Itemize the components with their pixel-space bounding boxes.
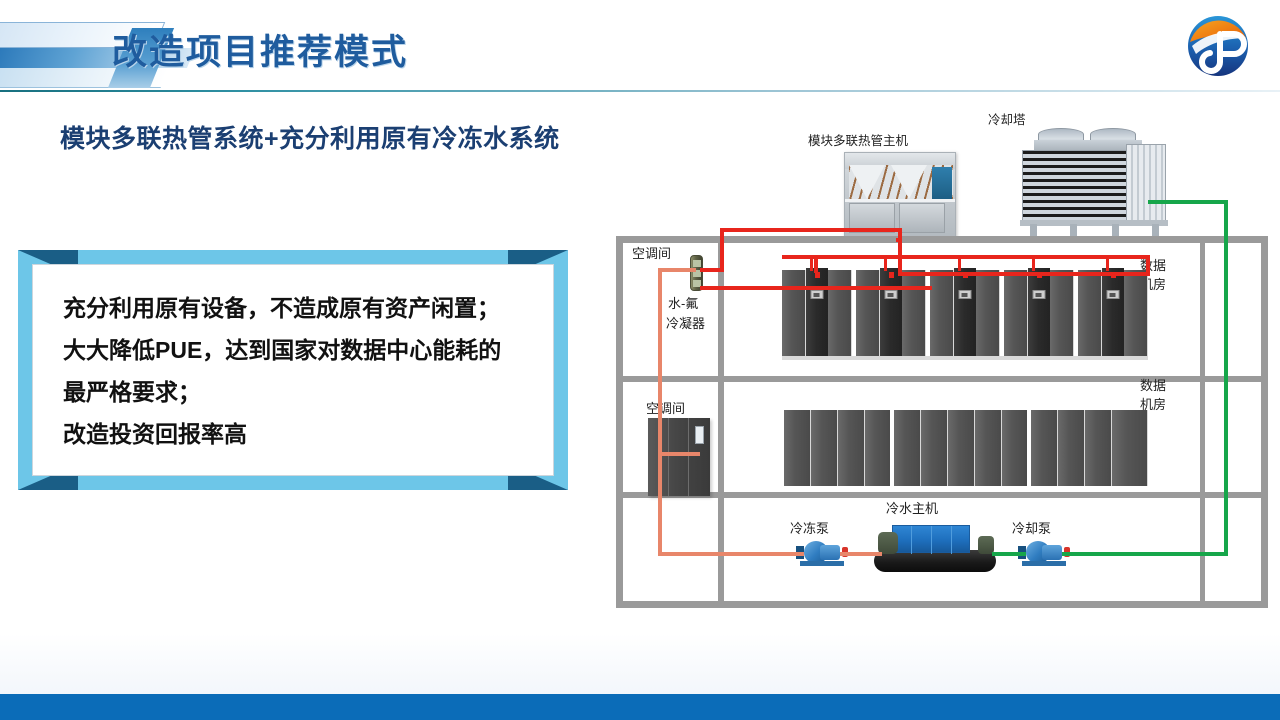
callout-content: 充分利用原有设备，不造成原有资产闲置； 大大降低PUE，达到国家对数据中心能耗的… bbox=[32, 264, 554, 476]
pipe-refrigerant-return-riser bbox=[1146, 255, 1150, 276]
tower-louvers bbox=[1022, 150, 1128, 222]
building-wall-left bbox=[616, 236, 623, 608]
callout-line-3: 最严格要求； bbox=[63, 371, 527, 413]
inrow-crac-3 bbox=[954, 268, 976, 358]
pipe-chilled-riser bbox=[658, 268, 662, 556]
inrow-crac-5 bbox=[1102, 268, 1124, 358]
cooling-tower-photo bbox=[1016, 128, 1168, 240]
header-divider bbox=[0, 90, 1280, 92]
building-wall-right bbox=[1261, 236, 1268, 608]
callout-line-4: 改造投资回报率高 bbox=[63, 413, 527, 455]
page-title: 改造项目推荐模式 bbox=[112, 24, 408, 75]
label-ac-room-2: 空调间 bbox=[646, 400, 685, 417]
label-data-room-2-line1: 数据 bbox=[1140, 377, 1166, 394]
callout-line-2: 大大降低PUE，达到国家对数据中心能耗的 bbox=[63, 329, 527, 371]
water-chiller-unit bbox=[874, 518, 1000, 572]
pipe-cooling-riser bbox=[1224, 200, 1228, 556]
pipe-chilled-to-condenser bbox=[658, 268, 696, 272]
label-chiller-host: 冷水主机 bbox=[886, 500, 938, 517]
building-wall-top bbox=[616, 236, 1268, 243]
slide-canvas: 改造项目推荐模式 模块多联热管系统+充分利用原有 bbox=[0, 0, 1280, 720]
ac-display-panel bbox=[695, 426, 704, 444]
pipe-refrigerant-supply-top bbox=[720, 228, 900, 232]
pipe-cooling-chiller-to-pump bbox=[992, 552, 1026, 556]
label-chilled-pump: 冷冻泵 bbox=[790, 520, 829, 537]
partition-floor-3 bbox=[718, 492, 724, 608]
label-condenser-line1: 水-氟 bbox=[668, 295, 698, 312]
partition-floor-2 bbox=[718, 376, 724, 498]
brand-logo-icon bbox=[1184, 12, 1252, 80]
pipe-refrigerant-left-drop bbox=[720, 228, 724, 272]
pipe-chilled-to-ac-unit bbox=[658, 452, 700, 456]
benefits-callout-box: 充分利用原有设备，不造成原有资产闲置； 大大降低PUE，达到国家对数据中心能耗的… bbox=[18, 250, 568, 490]
tower-side-panel bbox=[1126, 144, 1166, 222]
section-subtitle: 模块多联热管系统+充分利用原有冷冻水系统 bbox=[60, 119, 560, 155]
callout-line-1: 充分利用原有设备，不造成原有资产闲置； bbox=[63, 287, 527, 329]
pipe-pump-to-chiller bbox=[840, 552, 882, 556]
label-cooling-pump: 冷却泵 bbox=[1012, 520, 1051, 537]
inrow-crac-1 bbox=[806, 268, 828, 358]
label-heatpipe-host: 模块多联热管主机 bbox=[808, 133, 908, 150]
slide-header: 改造项目推荐模式 bbox=[0, 0, 1280, 92]
pipe-refrigerant-header-a bbox=[700, 286, 932, 290]
heatpipe-outdoor-unit-photo bbox=[844, 152, 956, 238]
label-ac-room-1: 空调间 bbox=[632, 245, 671, 262]
system-schematic-diagram: 模块多联热管主机 冷却塔 bbox=[600, 100, 1280, 630]
pipe-cooling-to-tower bbox=[1148, 200, 1228, 204]
pipe-chilled-to-pump bbox=[658, 552, 804, 556]
label-cooling-tower: 冷却塔 bbox=[988, 112, 1026, 129]
inrow-crac-2 bbox=[880, 268, 902, 358]
inrow-crac-4 bbox=[1028, 268, 1050, 358]
pipe-refrigerant-to-condenser bbox=[700, 268, 724, 272]
pipe-cooling-pump-to-riser bbox=[1062, 552, 1228, 556]
pipe-refrigerant-header-c bbox=[782, 255, 1150, 259]
pipe-refrigerant-drop bbox=[898, 228, 902, 276]
building-wall-bottom bbox=[616, 601, 1268, 608]
label-condenser-line2: 冷凝器 bbox=[666, 315, 705, 332]
floor-divider-2 bbox=[616, 492, 1268, 498]
footer-bar bbox=[0, 694, 1280, 720]
floor-divider-1 bbox=[616, 376, 1268, 382]
